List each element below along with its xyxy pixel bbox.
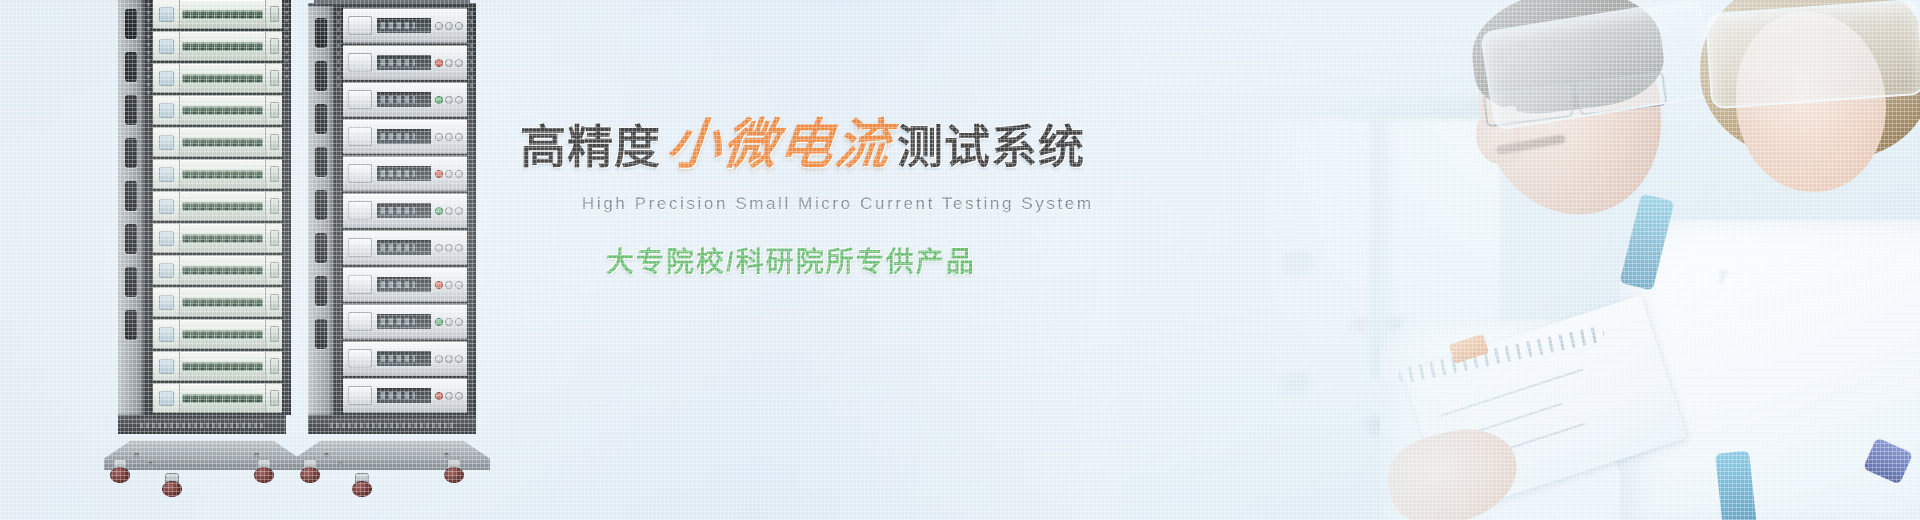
rack-unit-multichannel bbox=[153, 127, 282, 157]
lab-photo bbox=[1120, 0, 1920, 520]
channel-port bbox=[223, 331, 230, 338]
unit-right-cap bbox=[265, 288, 282, 316]
channel-port bbox=[247, 363, 254, 370]
unit-right-cap bbox=[265, 384, 282, 412]
unit-controls bbox=[436, 208, 462, 214]
rail-screw bbox=[147, 3, 150, 6]
rack-caster bbox=[162, 474, 182, 498]
rack-unit-instrument bbox=[343, 156, 467, 191]
unit-latch bbox=[270, 166, 279, 182]
rack-body bbox=[308, 3, 476, 418]
unit-left-cap bbox=[153, 384, 180, 412]
rack-body bbox=[118, 0, 286, 418]
rack-unit-multichannel bbox=[153, 159, 282, 189]
unit-left-panel bbox=[348, 238, 372, 257]
channel-port bbox=[247, 203, 254, 210]
channel-port bbox=[199, 363, 206, 370]
unit-controls bbox=[436, 60, 462, 66]
channel-port bbox=[255, 299, 262, 306]
channel-port bbox=[191, 267, 198, 274]
channel-port bbox=[207, 363, 214, 370]
rack-bottom-panel bbox=[308, 418, 476, 434]
channel-port bbox=[215, 139, 222, 146]
channel-port bbox=[207, 395, 214, 402]
channel-port bbox=[231, 171, 238, 178]
channel-port bbox=[207, 267, 214, 274]
channel-port bbox=[191, 139, 198, 146]
unit-right-cap bbox=[265, 224, 282, 252]
channel-port bbox=[207, 171, 214, 178]
channel-port bbox=[183, 363, 190, 370]
rack-vent-slot bbox=[315, 233, 327, 263]
rail-screw bbox=[470, 84, 473, 87]
unit-led bbox=[436, 393, 442, 399]
unit-button bbox=[456, 282, 462, 288]
channel-port bbox=[199, 203, 206, 210]
channel-port bbox=[239, 139, 246, 146]
channel-port bbox=[239, 75, 246, 82]
channel-port bbox=[215, 331, 222, 338]
channel-port bbox=[183, 331, 190, 338]
unit-indicator bbox=[159, 199, 174, 214]
unit-latch bbox=[270, 198, 279, 214]
rail-screw bbox=[147, 43, 150, 46]
channel-row bbox=[180, 64, 265, 92]
rack-base bbox=[294, 434, 490, 498]
channel-port bbox=[191, 75, 198, 82]
unit-button bbox=[446, 134, 452, 140]
channel-port bbox=[255, 363, 262, 370]
rack-vent-slot bbox=[125, 181, 137, 211]
channel-port bbox=[199, 267, 206, 274]
unit-display bbox=[377, 92, 431, 107]
channel-row bbox=[180, 224, 265, 252]
channel-port bbox=[223, 299, 230, 306]
rack-left-multichannel: LAB 测试系统 bbox=[118, 0, 300, 498]
channel-port bbox=[231, 235, 238, 242]
unit-left-cap bbox=[153, 256, 180, 284]
channel-row bbox=[180, 352, 265, 380]
channel-port bbox=[191, 395, 198, 402]
unit-led bbox=[436, 245, 442, 251]
channel-port bbox=[183, 299, 190, 306]
unit-indicator bbox=[159, 71, 174, 86]
unit-latch bbox=[270, 38, 279, 54]
headline: 高精度 小微电流 测试系统 bbox=[520, 118, 1140, 172]
rack-unit-multichannel bbox=[153, 0, 282, 29]
channel-port bbox=[255, 203, 262, 210]
channel-port bbox=[183, 75, 190, 82]
unit-left-cap bbox=[153, 320, 180, 348]
rail-screw bbox=[147, 51, 150, 54]
rack-upright-left bbox=[118, 0, 144, 415]
channel-port bbox=[215, 363, 222, 370]
unit-indicator bbox=[159, 231, 174, 246]
rack-unit-instrument bbox=[343, 230, 467, 265]
rack-frame: LAB 测试系统 bbox=[118, 0, 286, 434]
unit-left-cap bbox=[153, 128, 180, 156]
rail-screw bbox=[337, 68, 340, 71]
channel-port bbox=[215, 267, 222, 274]
unit-led bbox=[436, 60, 442, 66]
unit-left-cap bbox=[153, 224, 180, 252]
channel-row bbox=[180, 32, 265, 60]
channel-port bbox=[183, 139, 190, 146]
channel-port bbox=[255, 331, 262, 338]
unit-latch bbox=[270, 326, 279, 342]
channel-port bbox=[215, 203, 222, 210]
channel-port bbox=[239, 107, 246, 114]
unit-left-cap bbox=[153, 96, 180, 124]
unit-display bbox=[377, 18, 431, 33]
rail-screw bbox=[285, 67, 288, 70]
channel-port bbox=[199, 43, 206, 50]
channel-port bbox=[247, 331, 254, 338]
rack-caster bbox=[254, 460, 274, 484]
channel-port bbox=[207, 107, 214, 114]
unit-button bbox=[446, 282, 452, 288]
rack-unit-instrument bbox=[343, 119, 467, 154]
rack-unit-instrument bbox=[343, 8, 467, 43]
unit-display bbox=[377, 314, 431, 329]
unit-led bbox=[436, 319, 442, 325]
channel-port bbox=[247, 299, 254, 306]
unit-latch bbox=[270, 6, 279, 22]
channel-port bbox=[223, 11, 230, 18]
rail-screw bbox=[285, 43, 288, 46]
base-bolt bbox=[148, 462, 153, 467]
channel-port bbox=[183, 43, 190, 50]
rack-caster bbox=[352, 474, 372, 498]
unit-button bbox=[446, 97, 452, 103]
rail-screw bbox=[337, 44, 340, 47]
unit-led bbox=[436, 356, 442, 362]
unit-right-cap bbox=[265, 0, 282, 28]
channel-port bbox=[199, 171, 206, 178]
unit-left-panel bbox=[348, 16, 372, 35]
lab-blur-dot bbox=[1280, 250, 1314, 276]
rail-screw bbox=[285, 51, 288, 54]
rack-vent-slot bbox=[125, 224, 137, 254]
rail-screw bbox=[337, 36, 340, 39]
unit-display bbox=[377, 129, 431, 144]
rack-unit-list bbox=[343, 6, 467, 415]
base-bolt bbox=[134, 453, 139, 458]
unit-led bbox=[436, 171, 442, 177]
unit-left-cap bbox=[153, 192, 180, 220]
unit-indicator bbox=[159, 391, 174, 406]
rail-screw bbox=[285, 35, 288, 38]
channel-port bbox=[215, 107, 222, 114]
rail-screw bbox=[470, 36, 473, 39]
channel-port bbox=[247, 75, 254, 82]
rack-vent-slot bbox=[125, 267, 137, 297]
unit-right-cap bbox=[265, 128, 282, 156]
unit-latch bbox=[270, 358, 279, 374]
unit-button bbox=[456, 245, 462, 251]
rail-screw bbox=[285, 75, 288, 78]
rail-screw bbox=[147, 11, 150, 14]
channel-port bbox=[255, 395, 262, 402]
channel-port bbox=[239, 171, 246, 178]
channel-port bbox=[255, 43, 262, 50]
channel-port bbox=[215, 299, 222, 306]
rack-base bbox=[104, 434, 300, 498]
channel-port bbox=[255, 139, 262, 146]
channel-port bbox=[239, 395, 246, 402]
channel-port bbox=[191, 363, 198, 370]
unit-left-cap bbox=[153, 32, 180, 60]
channel-port bbox=[183, 395, 190, 402]
rack-unit-multichannel bbox=[153, 31, 282, 61]
channel-port bbox=[255, 171, 262, 178]
channel-port bbox=[215, 171, 222, 178]
channel-port bbox=[231, 203, 238, 210]
unit-button bbox=[456, 97, 462, 103]
channel-port bbox=[199, 11, 206, 18]
unit-button bbox=[446, 393, 452, 399]
rack-caster bbox=[300, 460, 320, 484]
channel-port bbox=[207, 331, 214, 338]
unit-led bbox=[436, 134, 442, 140]
rack-unit-instrument bbox=[343, 378, 467, 413]
channel-port bbox=[255, 107, 262, 114]
channel-port bbox=[191, 11, 198, 18]
unit-indicator bbox=[159, 135, 174, 150]
unit-indicator bbox=[159, 103, 174, 118]
rack-rail-left bbox=[334, 6, 343, 415]
lab-blur-dot bbox=[1352, 318, 1368, 332]
unit-button bbox=[456, 356, 462, 362]
unit-display bbox=[377, 166, 431, 181]
channel-port bbox=[239, 331, 246, 338]
rail-screw bbox=[147, 59, 150, 62]
channel-port bbox=[231, 139, 238, 146]
channel-port bbox=[199, 299, 206, 306]
channel-port bbox=[223, 107, 230, 114]
unit-button bbox=[456, 134, 462, 140]
rack-unit-multichannel bbox=[153, 63, 282, 93]
headline-lead: 高精度 bbox=[520, 124, 661, 170]
unit-indicator bbox=[159, 167, 174, 182]
channel-port bbox=[231, 267, 238, 274]
rack-right-instrument: LAB 测试系统 bbox=[308, 0, 490, 498]
rail-screw bbox=[470, 28, 473, 31]
channel-port bbox=[191, 299, 198, 306]
unit-indicator bbox=[159, 359, 174, 374]
unit-button bbox=[456, 319, 462, 325]
channel-port bbox=[191, 171, 198, 178]
channel-port bbox=[255, 267, 262, 274]
unit-left-cap bbox=[153, 160, 180, 188]
rack-vent-slot bbox=[315, 276, 327, 306]
rack-vent-slot bbox=[125, 310, 137, 340]
unit-left-panel bbox=[348, 386, 372, 405]
unit-controls bbox=[436, 356, 462, 362]
channel-port bbox=[215, 43, 222, 50]
unit-button bbox=[446, 319, 452, 325]
unit-button bbox=[446, 245, 452, 251]
rack-upright-left bbox=[308, 6, 334, 415]
base-bolt bbox=[338, 462, 343, 467]
channel-row bbox=[180, 384, 265, 412]
channel-port bbox=[239, 299, 246, 306]
channel-port bbox=[215, 235, 222, 242]
channel-port bbox=[191, 203, 198, 210]
channel-row bbox=[180, 128, 265, 156]
headline-highlight: 小微电流 bbox=[658, 118, 900, 172]
rack-unit-instrument bbox=[343, 193, 467, 228]
unit-right-cap bbox=[265, 352, 282, 380]
rack-vent-slot bbox=[125, 52, 137, 82]
channel-port bbox=[207, 75, 214, 82]
channel-port bbox=[223, 267, 230, 274]
headline-trail: 测试系统 bbox=[897, 124, 1085, 170]
channel-port bbox=[247, 267, 254, 274]
channel-port bbox=[231, 107, 238, 114]
channel-port bbox=[239, 363, 246, 370]
unit-latch bbox=[270, 230, 279, 246]
unit-left-panel bbox=[348, 53, 372, 72]
channel-row bbox=[180, 320, 265, 348]
rack-vent-slot bbox=[125, 138, 137, 168]
channel-port bbox=[191, 43, 198, 50]
rail-screw bbox=[147, 91, 150, 94]
lab-blur-dot bbox=[1278, 372, 1310, 396]
rack-caster bbox=[444, 460, 464, 484]
channel-port bbox=[231, 43, 238, 50]
channel-row bbox=[180, 192, 265, 220]
unit-display bbox=[377, 388, 431, 403]
unit-controls bbox=[436, 23, 462, 29]
channel-row bbox=[180, 160, 265, 188]
rail-screw bbox=[337, 52, 340, 55]
channel-port bbox=[239, 11, 246, 18]
rack-unit-multichannel bbox=[153, 255, 282, 285]
unit-controls bbox=[436, 282, 462, 288]
unit-display bbox=[377, 55, 431, 70]
rack-unit-multichannel bbox=[153, 95, 282, 125]
unit-indicator bbox=[159, 295, 174, 310]
unit-left-panel bbox=[348, 201, 372, 220]
unit-right-cap bbox=[265, 96, 282, 124]
channel-port bbox=[255, 11, 262, 18]
channel-port bbox=[207, 299, 214, 306]
channel-port bbox=[207, 43, 214, 50]
unit-button bbox=[446, 208, 452, 214]
rack-unit-instrument bbox=[343, 45, 467, 80]
unit-controls bbox=[436, 393, 462, 399]
unit-right-cap bbox=[265, 192, 282, 220]
rack-vent-slot bbox=[315, 147, 327, 177]
channel-port bbox=[223, 43, 230, 50]
rail-screw bbox=[285, 11, 288, 14]
unit-led bbox=[436, 97, 442, 103]
channel-port bbox=[183, 11, 190, 18]
rack-unit-instrument bbox=[343, 82, 467, 117]
unit-display bbox=[377, 277, 431, 292]
rack-rail-right bbox=[467, 6, 476, 415]
channel-port bbox=[231, 75, 238, 82]
rack-vent-slot bbox=[125, 95, 137, 125]
rail-screw bbox=[147, 83, 150, 86]
unit-left-panel bbox=[348, 90, 372, 109]
rail-screw bbox=[470, 20, 473, 23]
unit-latch bbox=[270, 102, 279, 118]
rack-unit-multichannel bbox=[153, 383, 282, 413]
channel-port bbox=[183, 267, 190, 274]
rail-screw bbox=[337, 20, 340, 23]
channel-port bbox=[183, 171, 190, 178]
rack-vent-slot bbox=[315, 319, 327, 349]
channel-port bbox=[199, 139, 206, 146]
rail-screw bbox=[337, 76, 340, 79]
channel-port bbox=[207, 203, 214, 210]
channel-port bbox=[183, 235, 190, 242]
base-bolt bbox=[444, 453, 449, 458]
channel-port bbox=[223, 75, 230, 82]
channel-row bbox=[180, 256, 265, 284]
channel-port bbox=[223, 203, 230, 210]
unit-left-cap bbox=[153, 352, 180, 380]
rail-screw bbox=[147, 19, 150, 22]
unit-led bbox=[436, 208, 442, 214]
rack-rail-left bbox=[144, 0, 153, 415]
unit-left-panel bbox=[348, 312, 372, 331]
channel-port bbox=[239, 43, 246, 50]
unit-display bbox=[377, 240, 431, 255]
unit-button bbox=[446, 356, 452, 362]
unit-latch bbox=[270, 70, 279, 86]
rack-unit-multichannel bbox=[153, 287, 282, 317]
rail-screw bbox=[470, 68, 473, 71]
tagline-chinese: 大专院校/科研院所专供产品 bbox=[606, 240, 1140, 280]
unit-left-panel bbox=[348, 349, 372, 368]
rail-screw bbox=[147, 35, 150, 38]
channel-port bbox=[191, 107, 198, 114]
channel-port bbox=[247, 171, 254, 178]
channel-port bbox=[239, 235, 246, 242]
rail-screw bbox=[470, 44, 473, 47]
unit-button bbox=[456, 208, 462, 214]
rack-vent-slot bbox=[315, 61, 327, 91]
channel-port bbox=[247, 107, 254, 114]
rack-unit-list bbox=[153, 0, 282, 415]
unit-controls bbox=[436, 97, 462, 103]
rail-screw bbox=[337, 28, 340, 31]
rail-screw bbox=[337, 12, 340, 15]
unit-right-cap bbox=[265, 320, 282, 348]
channel-port bbox=[247, 235, 254, 242]
channel-port bbox=[239, 267, 246, 274]
unit-led bbox=[436, 282, 442, 288]
rack-unit-multichannel bbox=[153, 351, 282, 381]
unit-button bbox=[456, 60, 462, 66]
channel-port bbox=[255, 75, 262, 82]
channel-port bbox=[207, 235, 214, 242]
channel-port bbox=[247, 139, 254, 146]
unit-button bbox=[456, 393, 462, 399]
rack-vent-slot bbox=[315, 190, 327, 220]
channel-port bbox=[223, 395, 230, 402]
channel-port bbox=[191, 331, 198, 338]
unit-latch bbox=[270, 262, 279, 278]
rail-screw bbox=[470, 76, 473, 79]
unit-controls bbox=[436, 134, 462, 140]
unit-button bbox=[446, 23, 452, 29]
channel-port bbox=[223, 235, 230, 242]
channel-port bbox=[199, 395, 206, 402]
